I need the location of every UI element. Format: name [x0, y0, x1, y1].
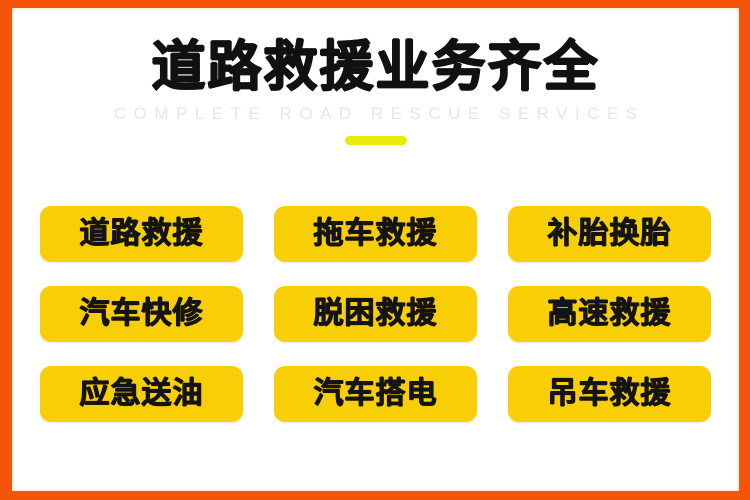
service-button-label: 吊车救援 [548, 379, 672, 409]
service-button-emergency-fuel-delivery[interactable]: 应急送油 [40, 366, 243, 422]
accent-divider [345, 136, 407, 145]
service-button-label: 高速救援 [548, 299, 672, 329]
service-button-label: 汽车快修 [80, 299, 204, 329]
page-title: 道路救援业务齐全 [12, 38, 739, 95]
service-button-crane-rescue[interactable]: 吊车救援 [508, 366, 711, 422]
service-button-label: 道路救援 [80, 219, 204, 249]
service-button-tow-truck-rescue[interactable]: 拖车救援 [274, 206, 477, 262]
poster-frame: 道路救援业务齐全 COMPLETE ROAD RESCUE SERVICES 道… [0, 0, 750, 500]
service-button-label: 应急送油 [80, 379, 204, 409]
service-button-highway-rescue[interactable]: 高速救援 [508, 286, 711, 342]
service-button-label: 脱困救援 [314, 299, 438, 329]
service-button-label: 汽车搭电 [314, 379, 438, 409]
service-grid: 道路救援 拖车救援 补胎换胎 汽车快修 脱困救援 高速救援 应急送油 汽车搭电 [41, 206, 710, 422]
page-subtitle: COMPLETE ROAD RESCUE SERVICES [12, 104, 739, 124]
service-button-label: 拖车救援 [314, 219, 438, 249]
service-button-road-rescue[interactable]: 道路救援 [40, 206, 243, 262]
service-button-quick-car-repair[interactable]: 汽车快修 [40, 286, 243, 342]
service-button-extrication-rescue[interactable]: 脱困救援 [274, 286, 477, 342]
poster-canvas: 道路救援业务齐全 COMPLETE ROAD RESCUE SERVICES 道… [12, 8, 739, 491]
service-button-car-jump-start[interactable]: 汽车搭电 [274, 366, 477, 422]
service-button-label: 补胎换胎 [548, 219, 672, 249]
service-button-tire-repair-replacement[interactable]: 补胎换胎 [508, 206, 711, 262]
poster-header: 道路救援业务齐全 COMPLETE ROAD RESCUE SERVICES [12, 8, 739, 145]
